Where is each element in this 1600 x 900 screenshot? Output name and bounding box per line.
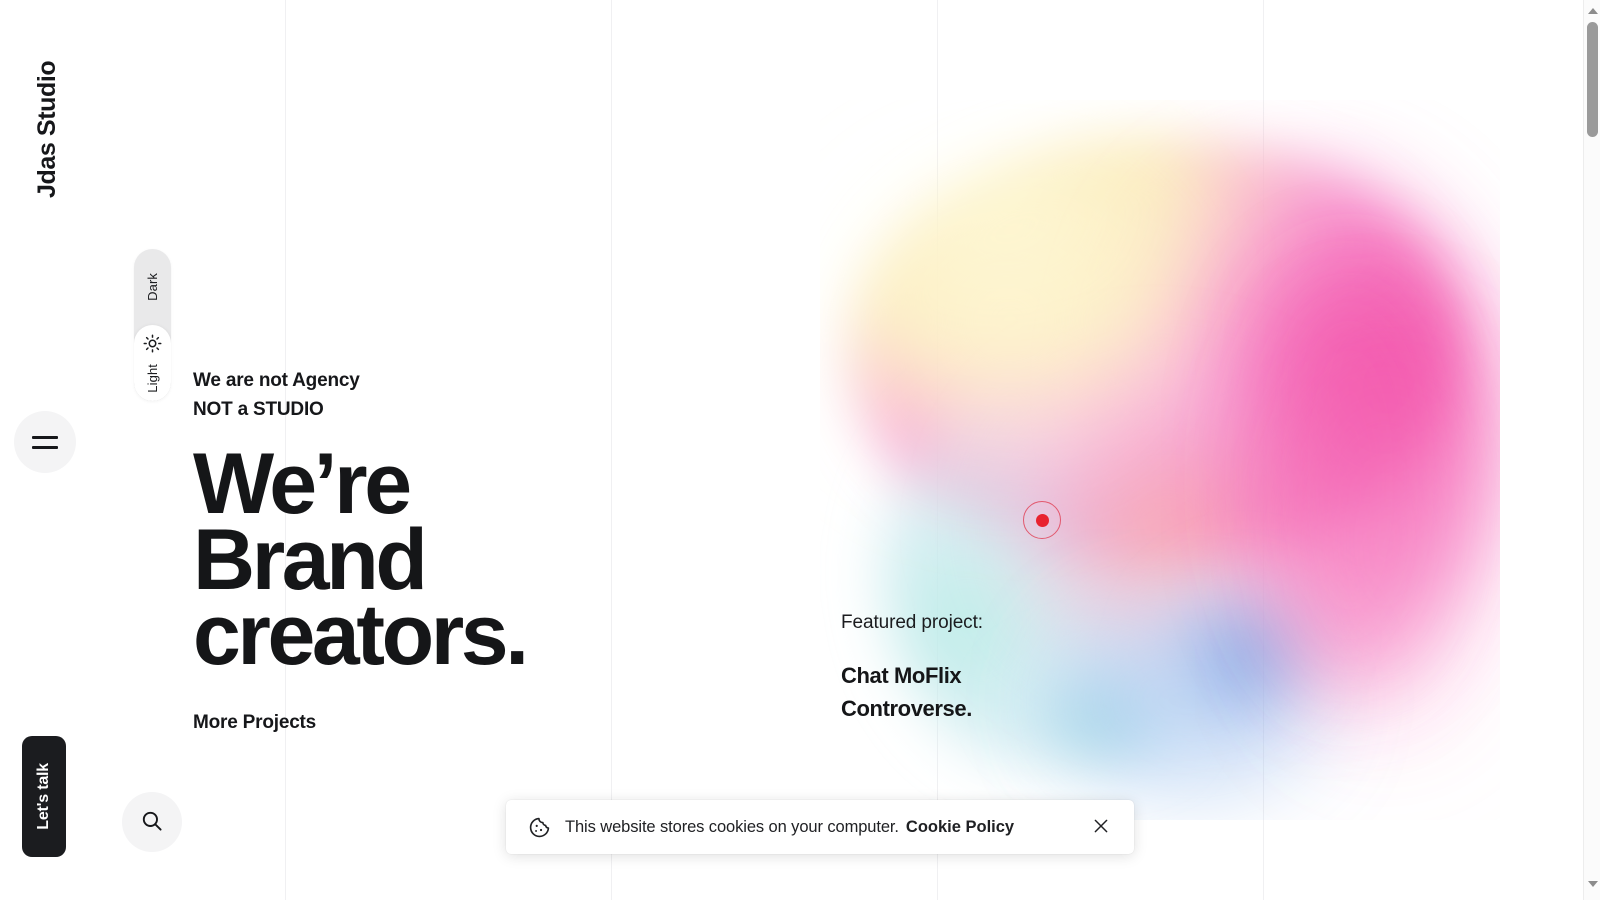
scrollbar[interactable] xyxy=(1583,0,1600,900)
hamburger-menu-button[interactable] xyxy=(14,411,76,473)
hero-section: We are not Agency NOT a STUDIO We’re Bra… xyxy=(193,366,613,734)
brand-logo[interactable]: Jdas Studio xyxy=(30,18,64,198)
featured-project-title[interactable]: Chat MoFlix Controverse. xyxy=(841,660,983,725)
hamburger-icon-bar2 xyxy=(32,446,58,449)
close-icon xyxy=(1092,817,1110,838)
headline-line-3: creators. xyxy=(193,598,613,674)
page-viewport: Jdas Studio Dark xyxy=(0,0,1568,900)
theme-option-light-label: Light xyxy=(146,364,159,393)
hero-eyebrow-line1: We are not Agency xyxy=(193,366,613,395)
featured-project: Featured project: Chat MoFlix Controvers… xyxy=(841,612,983,725)
cursor-dot xyxy=(1036,514,1049,527)
chevron-up-icon xyxy=(1588,8,1598,14)
cookie-icon xyxy=(528,816,551,839)
cookie-banner-message: This website stores cookies on your comp… xyxy=(565,818,899,837)
sun-icon xyxy=(143,334,162,358)
theme-toggle[interactable]: Dark xyxy=(134,249,171,401)
page-title: We’re Brand creators. xyxy=(193,447,613,674)
featured-project-title-line2: Controverse. xyxy=(841,693,983,726)
scrollbar-up-button[interactable] xyxy=(1584,2,1600,19)
more-projects-link[interactable]: More Projects xyxy=(193,712,316,734)
theme-option-light[interactable]: Light xyxy=(134,325,171,401)
theme-option-dark-label: Dark xyxy=(146,273,159,301)
grid-line xyxy=(937,0,938,900)
hero-eyebrow: We are not Agency NOT a STUDIO xyxy=(193,366,613,425)
lets-talk-button[interactable]: Let's talk xyxy=(22,736,66,857)
cookie-consent-banner: This website stores cookies on your comp… xyxy=(506,800,1134,854)
brand-logo-text: Jdas Studio xyxy=(30,18,64,198)
featured-project-label: Featured project: xyxy=(841,612,983,634)
close-button[interactable] xyxy=(1086,812,1116,842)
grid-line xyxy=(1263,0,1264,900)
search-icon xyxy=(140,809,164,836)
browser-window: Jdas Studio Dark xyxy=(0,0,1600,900)
chevron-down-icon xyxy=(1588,881,1598,887)
hamburger-icon xyxy=(32,436,58,439)
cursor-marker xyxy=(1023,501,1061,539)
scrollbar-thumb[interactable] xyxy=(1587,22,1598,137)
cookie-policy-link[interactable]: Cookie Policy xyxy=(906,818,1014,837)
featured-project-title-line1: Chat MoFlix xyxy=(841,660,983,693)
lets-talk-label: Let's talk xyxy=(36,763,52,830)
scrollbar-down-button[interactable] xyxy=(1584,875,1600,892)
theme-option-dark[interactable]: Dark xyxy=(134,249,171,325)
hero-eyebrow-line2: NOT a STUDIO xyxy=(193,395,613,424)
search-button[interactable] xyxy=(122,792,182,852)
